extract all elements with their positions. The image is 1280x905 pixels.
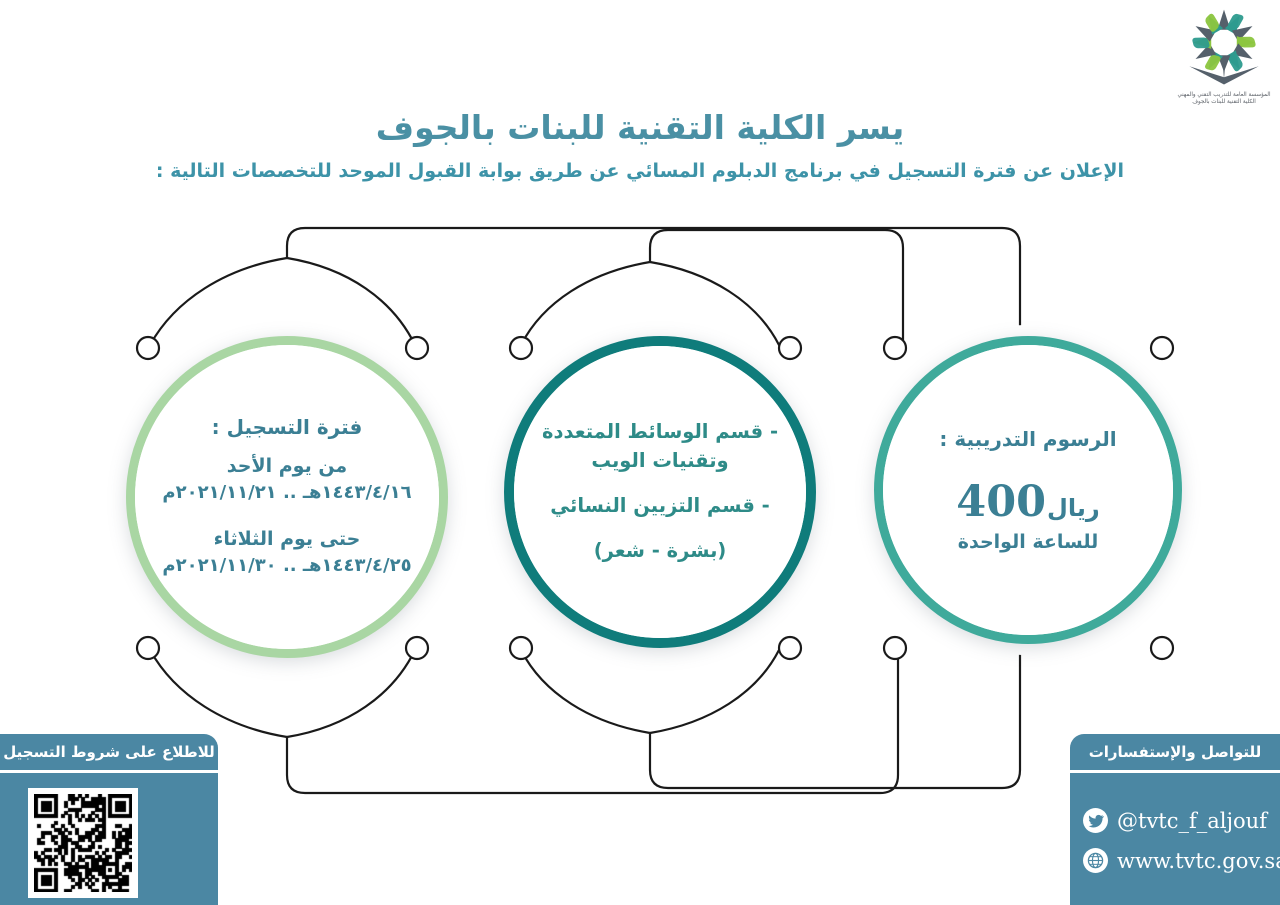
connector-arc-top-left-a xyxy=(150,258,287,345)
connector-bracket-bottom-outer xyxy=(287,650,898,793)
connector-arc-bot-left-a xyxy=(150,650,287,737)
logo-caption: المؤسسة العامة للتدريب التقني والمهني ال… xyxy=(1178,92,1271,107)
specialty-line-4: (بشرة - شعر) xyxy=(594,537,727,565)
connector-dot-icon xyxy=(779,337,801,359)
connector-arc-top-center-a xyxy=(521,262,650,345)
connector-dot-icon xyxy=(510,637,532,659)
page-title: يسر الكلية التقنية للبنات بالجوف xyxy=(0,108,1280,147)
connector-bracket-top-inner xyxy=(650,230,903,345)
connector-bracket-bottom-inner xyxy=(650,650,1020,788)
registration-start-date: ١٤٤٣/٤/١٦هـ .. ٢٠٢١/١١/٢١م xyxy=(162,480,411,506)
fees-title: الرسوم التدريبية : xyxy=(939,427,1116,451)
qr-code-icon[interactable] xyxy=(28,788,138,898)
connector-dot-icon xyxy=(406,337,428,359)
connector-dot-icon xyxy=(137,337,159,359)
specialties-content: - قسم الوسائط المتعددة وتقنيات الويب - ق… xyxy=(514,346,806,638)
registration-end-label: حتى يوم الثلاثاء xyxy=(214,526,361,553)
fees-number: 400 xyxy=(956,479,1046,526)
logo-caption-line2: الكلية التقنية للبنات بالجوف xyxy=(1178,99,1271,106)
connector-arc-bot-center-a xyxy=(521,650,650,733)
training-fees-content: الرسوم التدريبية : ريال 400 للساعة الواح… xyxy=(883,345,1173,635)
specialty-line-1: - قسم الوسائط المتعددة xyxy=(542,418,778,446)
connector-dot-icon xyxy=(1151,637,1173,659)
connector-bracket-top-outer xyxy=(287,228,1020,345)
specialties-circle: - قسم الوسائط المتعددة وتقنيات الويب - ق… xyxy=(504,336,816,648)
connector-dot-icon xyxy=(884,637,906,659)
connector-dot-icon xyxy=(510,337,532,359)
training-fees-circle: الرسوم التدريبية : ريال 400 للساعة الواح… xyxy=(874,336,1182,644)
twitter-handle: @tvtc_f_aljouf xyxy=(1117,809,1267,833)
contact-panel-body xyxy=(1070,773,1280,905)
connector-arc-top-center-b xyxy=(650,262,779,345)
globe-icon xyxy=(1083,848,1108,873)
registration-end-date: ١٤٤٣/٤/٢٥هـ .. ٢٠٢١/١١/٣٠م xyxy=(162,553,411,579)
qr-panel-heading: للاطلاع على شروط التسجيل xyxy=(0,734,218,770)
contact-panel-heading: للتواصل والإستفسارات xyxy=(1070,734,1280,770)
connector-arc-top-left-b xyxy=(287,258,415,345)
registration-title: فترة التسجيل : xyxy=(212,415,363,439)
connector-dot-icon xyxy=(406,637,428,659)
tvtc-starburst-icon xyxy=(1178,6,1270,90)
qr-code-canvas xyxy=(34,794,132,892)
tvtc-logo: المؤسسة العامة للتدريب التقني والمهني ال… xyxy=(1168,6,1280,124)
specialty-line-2: وتقنيات الويب xyxy=(591,447,728,475)
fees-per-hour: للساعة الواحدة xyxy=(958,531,1098,553)
poster-canvas: المؤسسة العامة للتدريب التقني والمهني ال… xyxy=(0,0,1280,905)
twitter-icon xyxy=(1083,808,1108,833)
fees-currency: ريال xyxy=(1047,495,1100,521)
page-subtitle: الإعلان عن فترة التسجيل في برنامج الدبلو… xyxy=(0,160,1280,182)
connector-dot-icon xyxy=(1151,337,1173,359)
specialty-line-3: - قسم التزيين النسائي xyxy=(550,492,769,520)
connector-arc-bot-center-b xyxy=(650,650,779,733)
website-url: www.tvtc.gov.sa xyxy=(1117,849,1280,873)
registration-period-content: فترة التسجيل : من يوم الأحد ١٤٤٣/٤/١٦هـ … xyxy=(135,345,439,649)
website-contact-row[interactable]: www.tvtc.gov.sa xyxy=(1083,848,1280,873)
registration-start-label: من يوم الأحد xyxy=(227,453,347,480)
connector-dot-icon xyxy=(137,637,159,659)
connector-dot-icon xyxy=(884,337,906,359)
twitter-contact-row[interactable]: @tvtc_f_aljouf xyxy=(1083,808,1267,833)
fees-amount-row: ريال 400 xyxy=(956,479,1099,526)
connector-dot-icon xyxy=(779,637,801,659)
registration-period-circle: فترة التسجيل : من يوم الأحد ١٤٤٣/٤/١٦هـ … xyxy=(126,336,448,658)
connector-arc-bot-left-b xyxy=(287,650,415,737)
